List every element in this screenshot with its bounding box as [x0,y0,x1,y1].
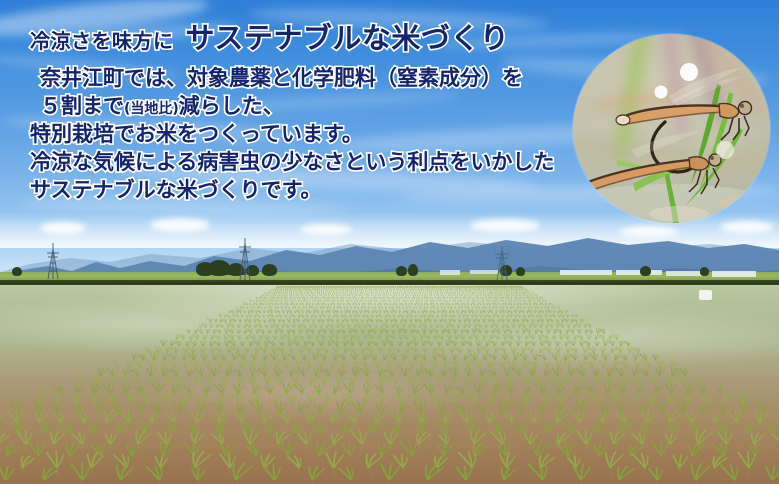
tree [640,266,651,276]
body-line-2-suffix: 減らした、 [179,94,284,118]
banner-copy: 冷涼さを味方に サステナブルな米づくり 奈井江町では、対象農薬と化学肥料（窒素成… [0,0,560,205]
tree [396,266,407,276]
bokeh-highlight [587,198,611,210]
inset-foreground [573,34,770,223]
greenhouse [616,270,662,275]
tree [408,264,418,276]
rice-seedling-rows [0,285,779,484]
rice-promo-banner: 冷涼さを味方に サステナブルな米づくり 奈井江町では、対象農薬と化学肥料（窒素成… [0,0,779,484]
headline: 冷涼さを味方に サステナブルな米づくり [30,24,560,53]
bokeh-highlight [716,141,734,159]
transmission-tower [46,243,60,279]
tree [208,260,230,276]
transmission-tower [494,246,510,280]
damselfly-lower [574,130,721,194]
bokeh-highlight [719,195,770,213]
rice-paddy-field [0,285,779,484]
tree [700,267,709,276]
headline-main: サステナブルな米づくり [186,24,510,53]
body-text: 奈井江町では、対象農薬と化学肥料（窒素成分）を ５割まで(当地比)減らした、 特… [30,65,560,205]
tree [262,264,277,276]
headline-lead: 冷涼さを味方に [30,31,174,51]
body-line-4: 冷涼な気候による病害虫の少なさという利点をいかした [30,149,560,177]
body-line-5: サステナブルな米づくりです。 [30,177,560,205]
damselfly-inset-photo [573,34,770,223]
body-line-3: 特別栽培でお米をつくっています。 [30,121,560,149]
greenhouse [560,270,612,275]
transmission-tower [238,238,252,280]
body-line-1: 奈井江町では、対象農薬と化学肥料（窒素成分）を [30,65,560,93]
tree [12,267,22,276]
body-line-2: ５割まで(当地比)減らした、 [30,93,560,121]
body-line-2-prefix: ５割まで [40,94,124,118]
bokeh-highlight [649,206,709,222]
farm-building [712,271,756,277]
tree [516,267,525,276]
farm-building [440,270,460,275]
bokeh-highlight [680,63,698,81]
field-implement [699,290,712,300]
bokeh-highlight [655,86,668,99]
body-line-2-note: (当地比) [124,101,179,117]
